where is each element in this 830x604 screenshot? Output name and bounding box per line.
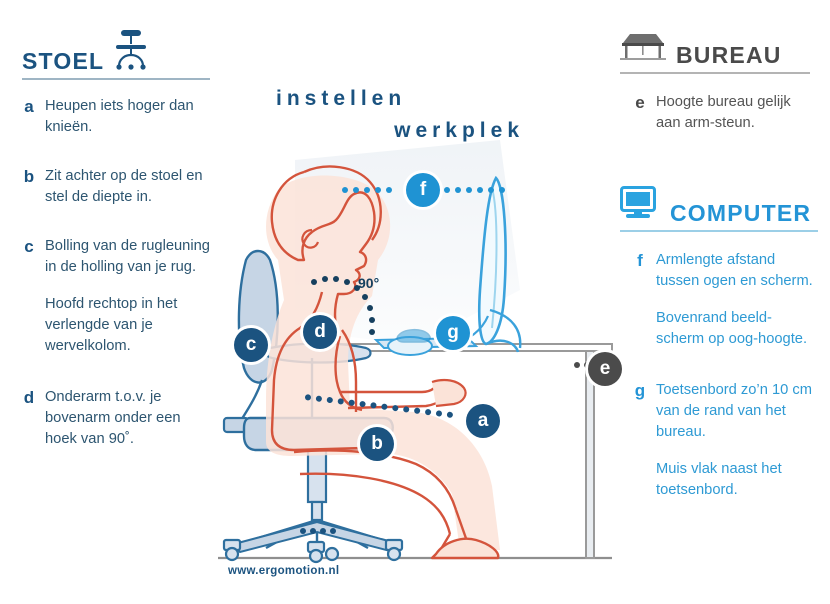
- computer-title: COMPUTER: [670, 202, 811, 225]
- computer-rule: [620, 230, 818, 232]
- item-extra-g: Muis vlak naast het toetsenbord.: [656, 459, 818, 501]
- badge-a-label: a: [478, 410, 489, 432]
- item-letter-c: c: [22, 236, 36, 278]
- list-item: g Toetsenbord zo’n 10 cm van de rand van…: [633, 380, 818, 443]
- badge-d[interactable]: d: [303, 315, 337, 349]
- desk-icon: [620, 28, 666, 67]
- office-chair-icon: [114, 28, 148, 75]
- item-text-a: Heupen iets hoger dan knieën.: [45, 96, 210, 138]
- item-letter-e: e: [633, 92, 647, 134]
- list-item: c Bolling van de rugleuning in de hollin…: [22, 236, 210, 278]
- bureau-title: BUREAU: [676, 44, 782, 67]
- item-text-e: Hoogte bureau gelijk aan arm-steun.: [656, 92, 810, 134]
- list-item: e Hoogte bureau gelijk aan arm-steun.: [633, 92, 810, 134]
- item-letter-a: a: [22, 96, 36, 138]
- item-letter-g: g: [633, 380, 647, 443]
- item-text-d: Onderarm t.o.v. je bovenarm onder een ho…: [45, 387, 210, 450]
- section-stoel: STOEL a Heupen iets hoger dan knieën.: [22, 28, 210, 450]
- item-letter-d: d: [22, 387, 36, 450]
- badge-d-label: d: [314, 321, 326, 343]
- list-item: b Zit achter op de stoel en stel de diep…: [22, 166, 210, 208]
- badge-c[interactable]: c: [234, 328, 268, 362]
- angle-label: 90°: [358, 275, 379, 291]
- item-text-g: Toetsenbord zo’n 10 cm van de rand van h…: [656, 380, 818, 443]
- stoel-rule: [22, 78, 210, 80]
- infographic-canvas: STOEL a Heupen iets hoger dan knieën.: [0, 0, 830, 604]
- badge-f[interactable]: f: [406, 173, 440, 207]
- item-extra-f: Bovenrand beeld-scherm op oog-hoogte.: [656, 308, 818, 350]
- connector-dots-f-left: [342, 187, 396, 193]
- badge-e[interactable]: e: [588, 352, 622, 386]
- badge-c-label: c: [246, 334, 257, 356]
- connector-dots-b: [300, 528, 344, 534]
- item-letter-f: f: [633, 250, 647, 292]
- badge-b[interactable]: b: [360, 427, 394, 461]
- connector-dots-f-right: [444, 187, 506, 193]
- bureau-header: BUREAU: [620, 28, 810, 67]
- badge-g[interactable]: g: [436, 316, 470, 350]
- list-item: a Heupen iets hoger dan knieën.: [22, 96, 210, 138]
- badge-b-label: b: [371, 433, 383, 455]
- item-letter-b: b: [22, 166, 36, 208]
- computer-header: COMPUTER: [620, 186, 818, 225]
- badge-e-label: e: [600, 358, 611, 380]
- item-text-b: Zit achter op de stoel en stel de diepte…: [45, 166, 210, 208]
- section-bureau: BUREAU e Hoogte bureau gelijk aan arm-st…: [620, 28, 810, 134]
- item-text-f: Armlengte afstand tussen ogen en scherm.: [656, 250, 818, 292]
- stoel-header: STOEL: [22, 28, 210, 73]
- website-label: www.ergomotion.nl: [228, 565, 339, 577]
- badge-g-label: g: [447, 322, 459, 344]
- bureau-rule: [620, 72, 810, 74]
- section-computer: COMPUTER f Armlengte afstand tussen ogen…: [620, 186, 818, 501]
- list-item: d Onderarm t.o.v. je bovenarm onder een …: [22, 387, 210, 450]
- badge-f-label: f: [420, 179, 426, 201]
- list-item: f Armlengte afstand tussen ogen en scher…: [633, 250, 818, 292]
- title-line-1: instellen: [276, 87, 406, 110]
- item-extra-c: Hoofd rechtop in het verlengde van je we…: [45, 294, 210, 357]
- item-text-c: Bolling van de rugleuning in de holling …: [45, 236, 210, 278]
- stoel-title: STOEL: [22, 50, 104, 73]
- badge-a[interactable]: a: [466, 404, 500, 438]
